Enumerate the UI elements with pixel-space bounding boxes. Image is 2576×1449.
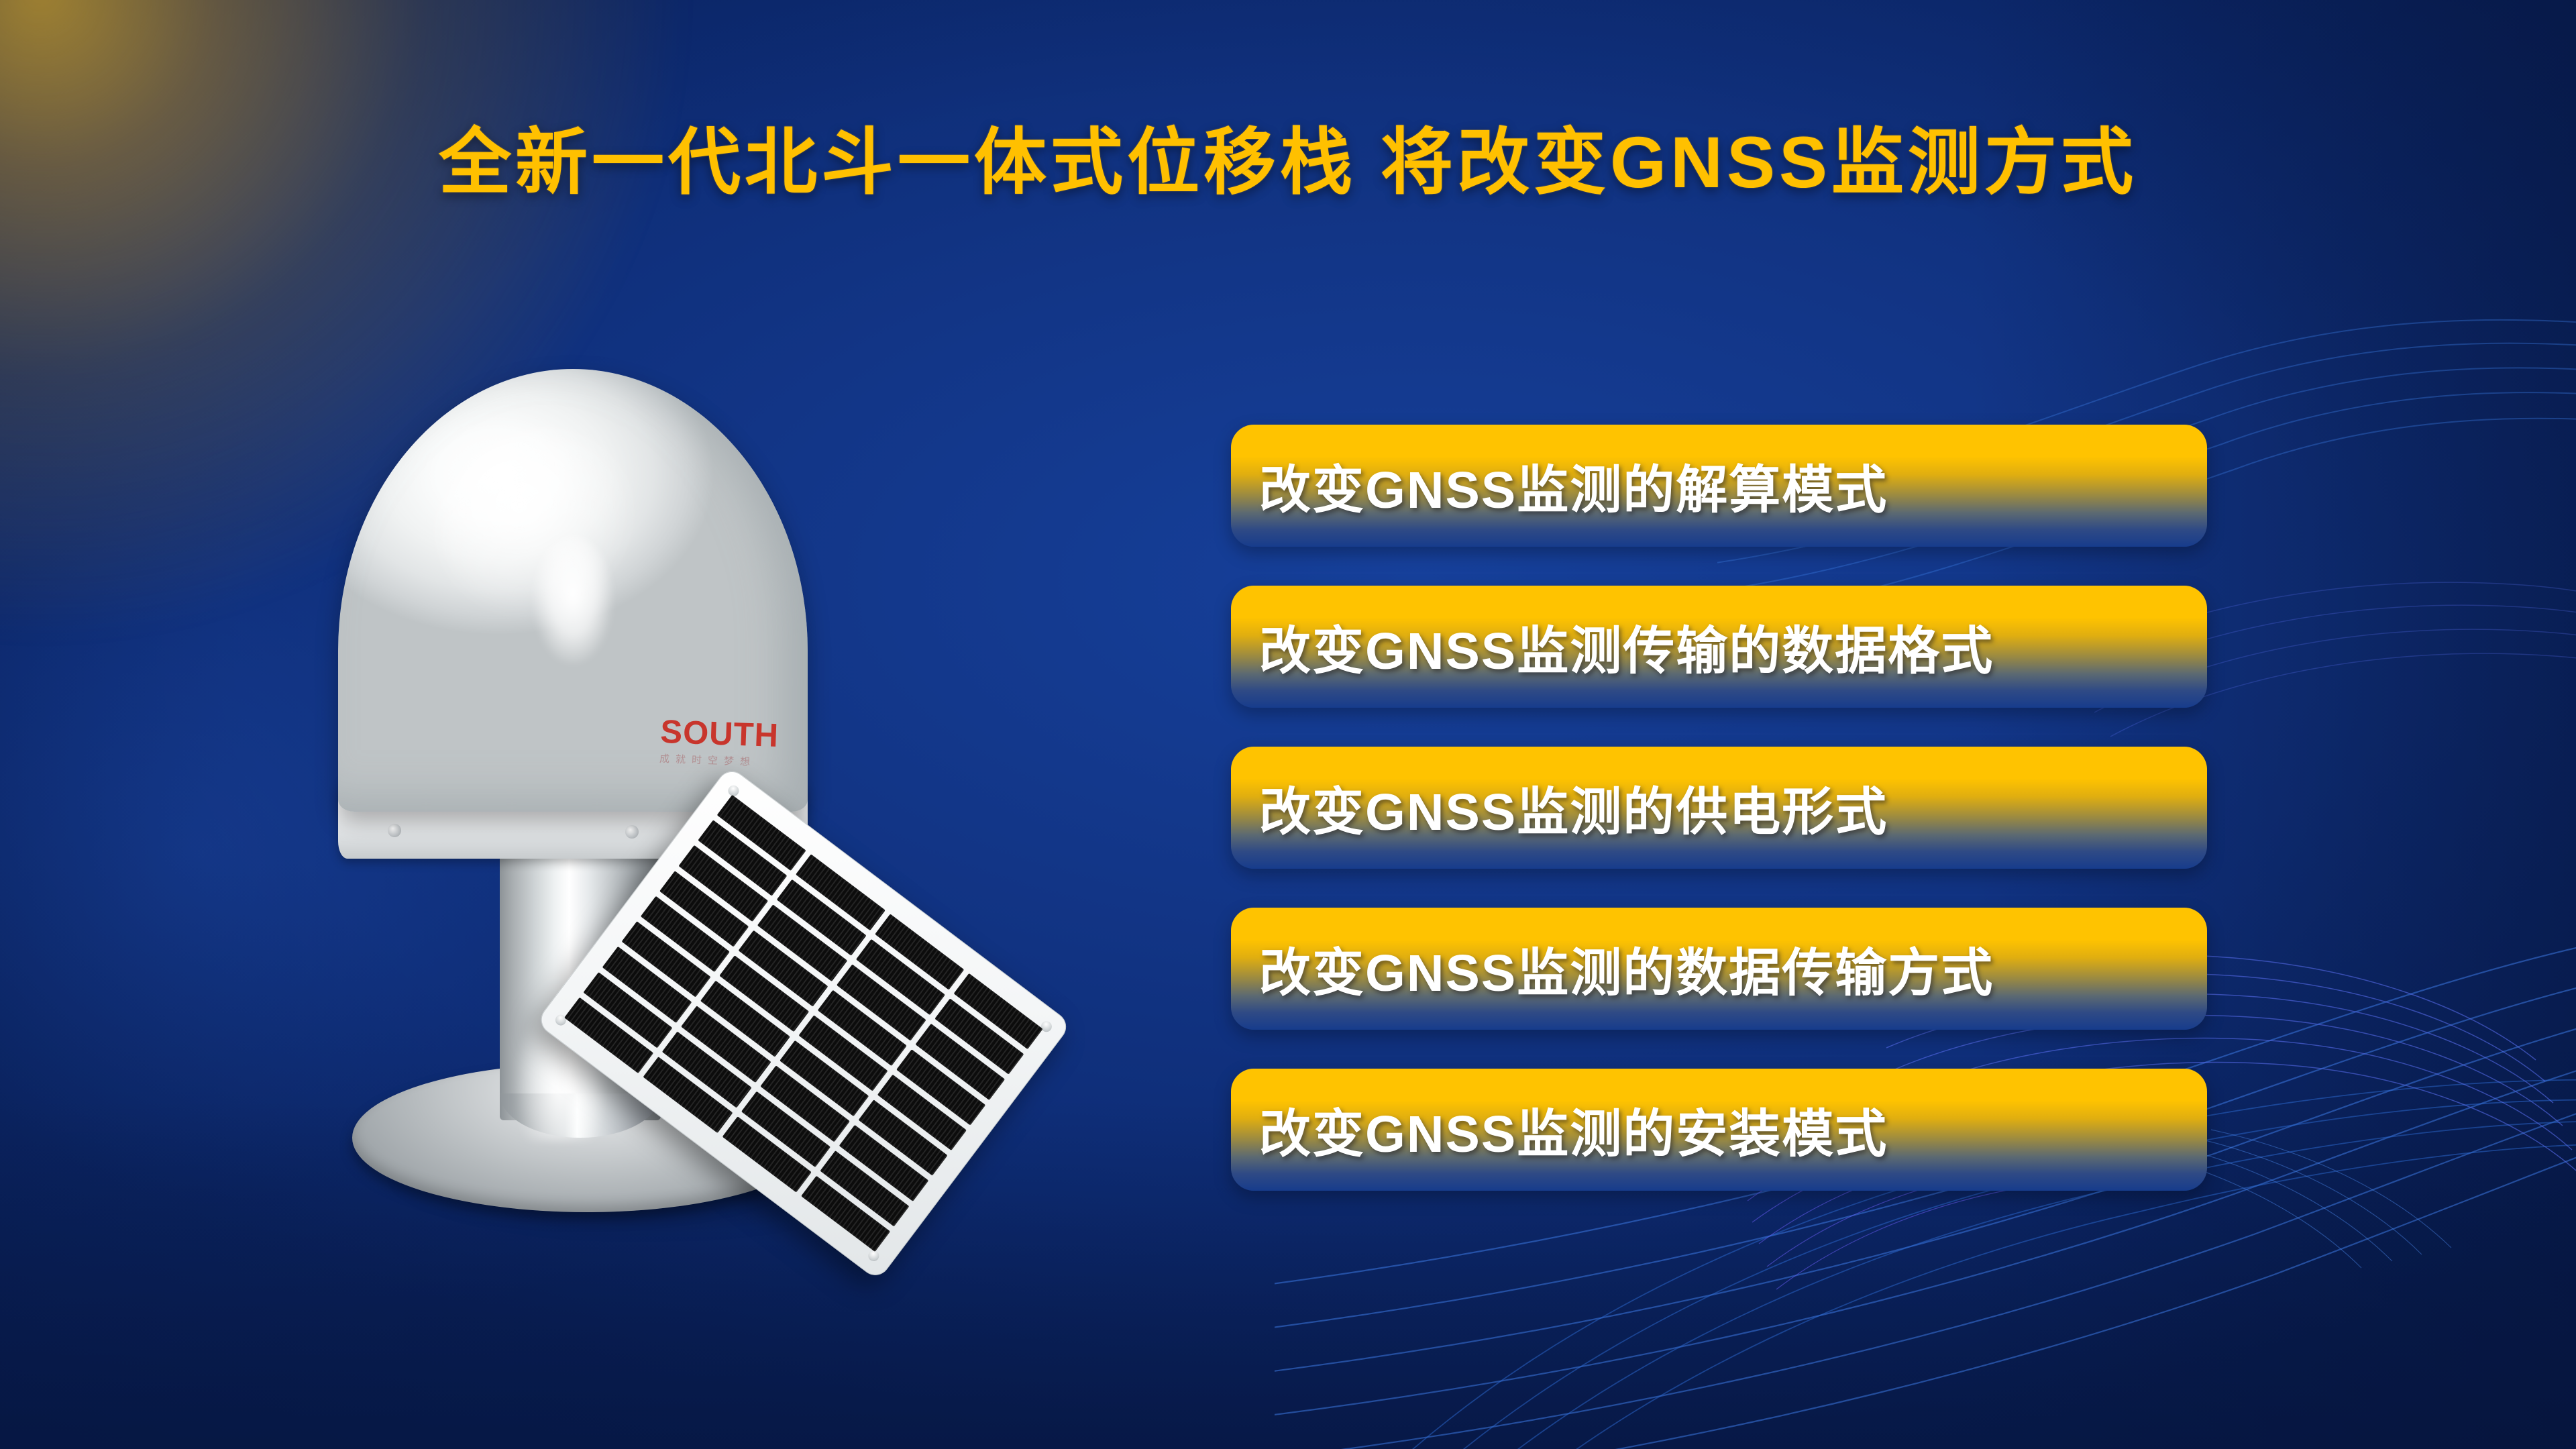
page-title: 全新一代北斗一体式位移栈 将改变GNSS监测方式: [0, 119, 2576, 205]
brand-logo: SOUTH 成就时空梦想: [659, 716, 780, 768]
feature-badge-label: 改变GNSS监测的数据传输方式: [1231, 932, 1994, 1006]
slide-canvas: 全新一代北斗一体式位移栈 将改变GNSS监测方式 SOUTH 成就时空梦想: [0, 0, 2576, 1449]
brand-slogan: 成就时空梦想: [659, 754, 778, 768]
dome-highlight-spot: [533, 537, 613, 664]
feature-badge-4[interactable]: 改变GNSS监测的数据传输方式: [1231, 908, 2207, 1030]
collar-screw: [388, 824, 401, 837]
feature-badge-1[interactable]: 改变GNSS监测的解算模式: [1231, 425, 2207, 547]
brand-name: SOUTH: [660, 716, 780, 753]
product-image: SOUTH 成就时空梦想: [315, 362, 1154, 1234]
feature-badge-label: 改变GNSS监测传输的数据格式: [1231, 610, 1994, 684]
feature-badge-2[interactable]: 改变GNSS监测传输的数据格式: [1231, 586, 2207, 708]
feature-badge-3[interactable]: 改变GNSS监测的供电形式: [1231, 747, 2207, 869]
feature-badge-label: 改变GNSS监测的解算模式: [1231, 449, 1888, 523]
collar-screw: [625, 825, 639, 839]
feature-badge-label: 改变GNSS监测的供电形式: [1231, 771, 1888, 845]
radome-dome: SOUTH 成就时空梦想: [338, 369, 808, 812]
panel-screw: [1039, 1019, 1054, 1034]
feature-badge-5[interactable]: 改变GNSS监测的安装模式: [1231, 1069, 2207, 1191]
feature-list: 改变GNSS监测的解算模式 改变GNSS监测传输的数据格式 改变GNSS监测的供…: [1231, 425, 2207, 1191]
feature-badge-label: 改变GNSS监测的安装模式: [1231, 1093, 1888, 1167]
